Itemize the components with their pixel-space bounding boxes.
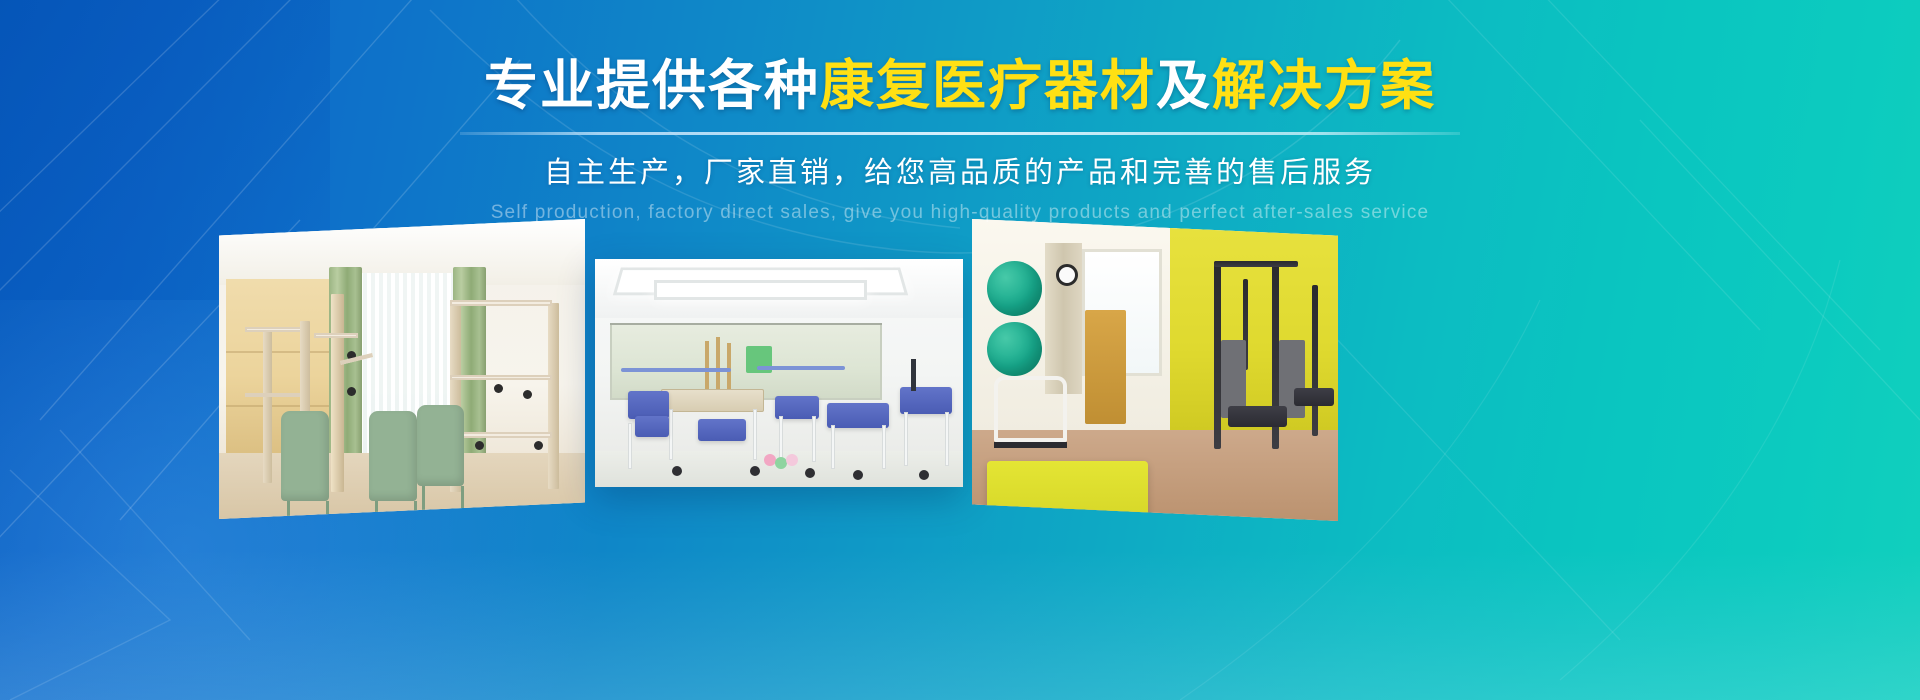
wood-stick xyxy=(727,343,731,391)
frame-rail xyxy=(450,432,552,438)
headline-segment-4: 解决方案 xyxy=(1212,56,1436,116)
blue-seat xyxy=(698,419,746,442)
green-chair xyxy=(417,405,465,486)
green-chair xyxy=(281,411,329,501)
blue-seat xyxy=(635,416,668,437)
tall-frame-post xyxy=(331,294,344,492)
headline-segment-2: 康复医疗器材 xyxy=(820,56,1156,116)
yellow-therapy-table xyxy=(987,461,1148,521)
cabinet-seam xyxy=(226,351,336,353)
bed-leg xyxy=(831,425,835,468)
green-chair xyxy=(369,411,417,501)
photo-right-scene xyxy=(972,219,1338,521)
table-leg xyxy=(669,409,673,459)
bed-leg xyxy=(812,416,816,462)
photo-right[interactable] xyxy=(972,219,1338,521)
parallel-bar xyxy=(757,366,845,370)
table-leg xyxy=(753,409,757,459)
subtitle-chinese: 自主生产，厂家直销，给您高品质的产品和完善的售后服务 xyxy=(0,149,1920,191)
exercise-ball xyxy=(987,261,1042,315)
frame-rail xyxy=(245,393,304,397)
equipment-knob xyxy=(523,390,532,399)
bench-seat xyxy=(1228,406,1287,427)
headline: 专业提供各种康复医疗器材及解决方案 xyxy=(484,58,1436,115)
cabinet-seam xyxy=(226,405,336,407)
exercise-ball xyxy=(987,322,1042,376)
frame-post xyxy=(548,303,559,489)
machine-top-bar xyxy=(1214,261,1298,267)
equipment-leg xyxy=(945,412,949,467)
mirror-edge xyxy=(610,323,882,325)
photo-center-scene xyxy=(595,259,963,487)
bench-seat xyxy=(1294,388,1334,406)
bed-leg xyxy=(882,425,886,468)
frame-rail xyxy=(450,375,552,380)
photo-center[interactable] xyxy=(595,259,963,487)
banner-text-block: 专业提供各种康复医疗器材及解决方案 自主生产，厂家直销，给您高品质的产品和完善的… xyxy=(0,58,1920,224)
therapy-table xyxy=(661,389,764,412)
equipment-knob xyxy=(534,441,543,450)
headline-segment-3: 及 xyxy=(1156,56,1212,116)
cart-base xyxy=(994,442,1067,448)
wood-stick xyxy=(716,337,720,392)
promo-banner: 专业提供各种康复医疗器材及解决方案 自主生产，厂家直销，给您高品质的产品和完善的… xyxy=(0,0,1920,700)
headline-segment-1: 专业提供各种 xyxy=(484,56,820,116)
chair-leg xyxy=(628,423,632,469)
machine-upright xyxy=(1214,261,1221,448)
frame-top-rail xyxy=(450,300,552,306)
blue-bed xyxy=(775,396,819,419)
ceiling-light xyxy=(654,280,867,301)
machine-upright xyxy=(1312,285,1318,436)
equipment-knob xyxy=(494,384,503,393)
subtitle-english: Self production, factory direct sales, g… xyxy=(0,202,1920,224)
frame-rail xyxy=(245,327,304,332)
frame-post xyxy=(263,327,272,483)
wood-stick xyxy=(705,341,709,391)
frame-rail xyxy=(314,333,358,338)
caster-wheel xyxy=(853,470,863,480)
walker-cart xyxy=(994,376,1067,442)
photo-left-scene xyxy=(219,219,585,519)
bed-leg xyxy=(779,416,783,462)
photo-left[interactable] xyxy=(219,219,585,519)
equipment-post xyxy=(911,359,916,391)
headline-divider xyxy=(460,132,1460,135)
caster-wheel xyxy=(672,466,682,476)
caster-wheel xyxy=(805,468,815,478)
caster-wheel xyxy=(919,470,929,480)
blue-equipment xyxy=(900,387,952,414)
blue-chair xyxy=(628,391,668,418)
blue-bed xyxy=(827,403,890,428)
parallel-bar xyxy=(621,368,731,372)
caster-wheel xyxy=(750,466,760,476)
wooden-door xyxy=(1085,310,1125,425)
equipment-leg xyxy=(904,412,908,467)
